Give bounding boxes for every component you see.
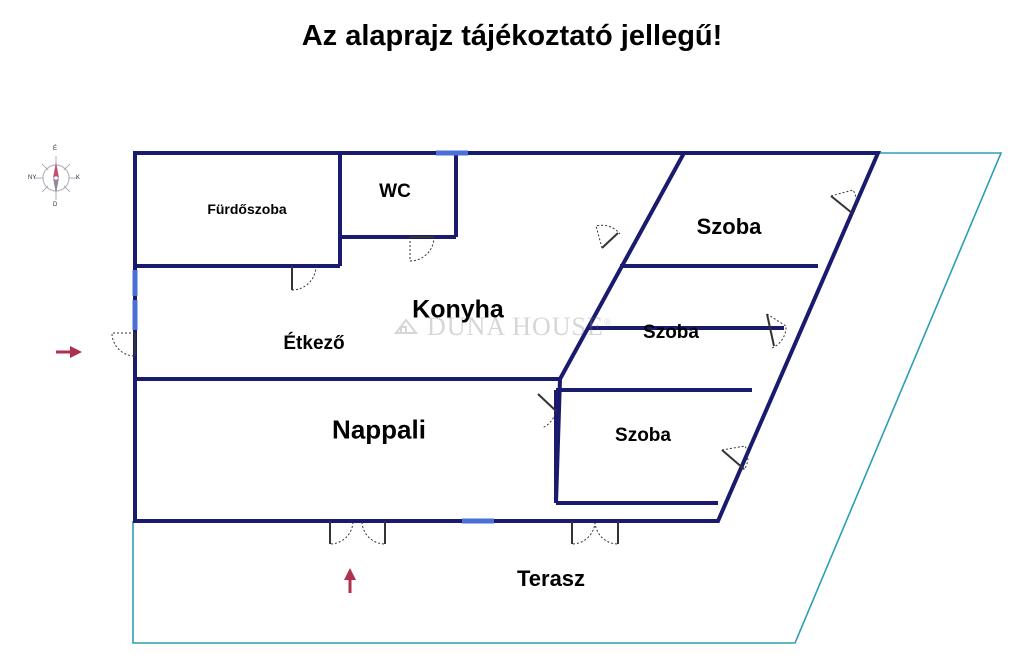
compass-north-label: É bbox=[53, 146, 57, 152]
room-label-konyha: Konyha bbox=[412, 296, 504, 325]
room-label-nappali: Nappali bbox=[332, 415, 426, 446]
room-label-fürdőszoba: Fürdőszoba bbox=[207, 201, 286, 217]
floorplan-drawing bbox=[0, 0, 1024, 663]
terrace-arrow-up bbox=[344, 568, 356, 593]
room-label-szoba-also: Szoba bbox=[615, 425, 671, 447]
compass-south-label: D bbox=[53, 202, 57, 208]
compass-rose-icon: É D K NY bbox=[28, 146, 84, 210]
doors bbox=[112, 190, 856, 544]
compass-west-label: NY bbox=[28, 175, 36, 181]
compass-east-label: K bbox=[76, 175, 80, 181]
floorplan-canvas: Az alaprajz tájékoztató jellegű! bbox=[0, 0, 1024, 663]
room-label-wc: WC bbox=[379, 181, 411, 203]
entry-arrow-left bbox=[56, 346, 82, 358]
room-label-szoba-felso: Szoba bbox=[697, 214, 762, 240]
room-label-terasz: Terasz bbox=[517, 566, 585, 592]
room-label-étkező: Étkező bbox=[283, 333, 344, 355]
room-label-szoba-kozep: Szoba bbox=[643, 322, 699, 344]
